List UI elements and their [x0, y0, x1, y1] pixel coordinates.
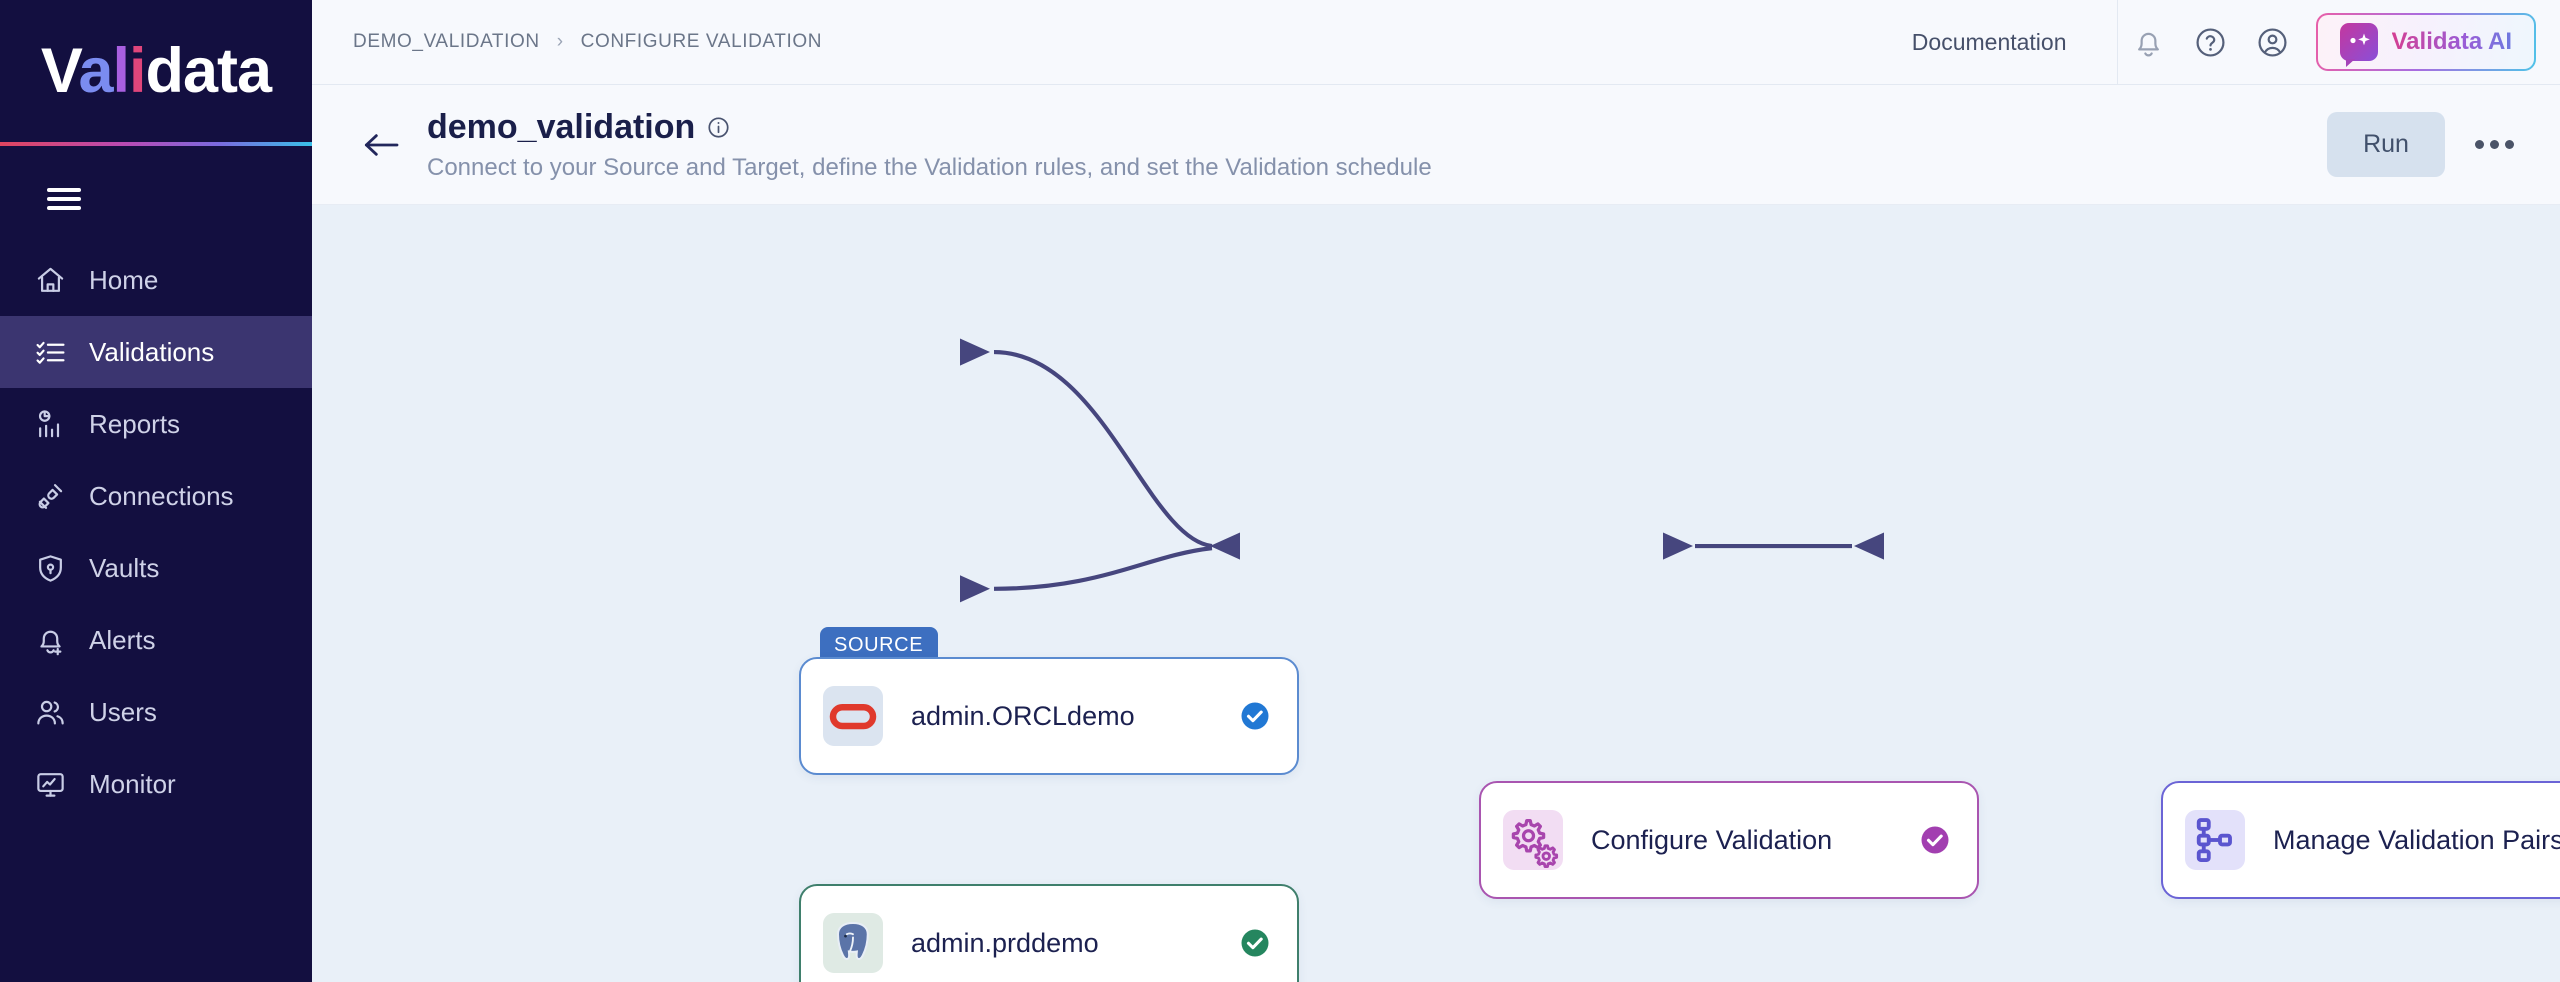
account-button[interactable]	[2242, 11, 2304, 73]
flow-node-label: admin.prddemo	[911, 928, 1237, 959]
brand-gradient-divider	[0, 142, 312, 146]
top-bar: DEMO_VALIDATION › CONFIGURE VALIDATION D…	[312, 0, 2560, 85]
hamburger-icon[interactable]	[47, 188, 81, 210]
status-check-icon	[1917, 822, 1953, 858]
flow-node-label: Manage Validation Pairs	[2273, 825, 2560, 856]
page-title-row: demo_validation	[427, 108, 1432, 147]
plug-icon	[33, 479, 67, 513]
logo-letter-v: V	[41, 36, 79, 106]
bell-icon	[2132, 26, 2165, 59]
status-check-icon	[1237, 698, 1273, 734]
report-chart-icon	[33, 407, 67, 441]
sidebar-nav: Home Validations Repor	[0, 244, 312, 820]
sidebar-item-alerts[interactable]: Alerts	[0, 604, 312, 676]
logo-letter-a: a	[78, 36, 112, 106]
sidebar-item-label: Alerts	[89, 625, 155, 656]
documentation-link[interactable]: Documentation	[1862, 29, 2117, 56]
page-header: demo_validation Connect to your Source a…	[312, 85, 2560, 205]
flow-node-source[interactable]: admin.ORCLdemo	[799, 657, 1299, 775]
sidebar-item-label: Connections	[89, 481, 234, 512]
page-subtitle: Connect to your Source and Target, defin…	[427, 154, 1432, 182]
bell-plus-icon	[33, 623, 67, 657]
monitor-chart-icon	[33, 767, 67, 801]
flow-node-manage-validation-pairs[interactable]: Manage Validation Pairs	[2161, 781, 2560, 899]
sidebar: Validata Home	[0, 0, 312, 982]
arrow-left-icon	[361, 129, 401, 161]
validata-ai-label: Validata AI	[2392, 28, 2513, 56]
flow-node-configure-validation[interactable]: Configure Validation	[1479, 781, 1979, 899]
sidebar-item-vaults[interactable]: Vaults	[0, 532, 312, 604]
help-button[interactable]	[2180, 11, 2242, 73]
info-circle-icon[interactable]	[707, 116, 730, 139]
status-check-icon	[1237, 925, 1273, 961]
sidebar-item-label: Users	[89, 697, 157, 728]
main-area: DEMO_VALIDATION › CONFIGURE VALIDATION D…	[312, 0, 2560, 982]
flow-node-label: admin.ORCLdemo	[911, 701, 1237, 732]
logo-letter-l: l	[113, 36, 130, 106]
postgresql-logo-icon	[823, 913, 883, 973]
home-icon	[33, 263, 67, 297]
notifications-button[interactable]	[2118, 11, 2180, 73]
help-circle-icon	[2194, 26, 2227, 59]
page-header-actions: Run	[2327, 112, 2519, 177]
shield-lock-icon	[33, 551, 67, 585]
sidebar-item-reports[interactable]: Reports	[0, 388, 312, 460]
kebab-menu-icon[interactable]	[2469, 120, 2519, 170]
logo-letter-i: i	[129, 36, 146, 106]
app-root: Validata Home	[0, 0, 2560, 982]
checklist-icon	[33, 335, 67, 369]
page-header-text: demo_validation Connect to your Source a…	[427, 108, 1432, 182]
sidebar-item-monitor[interactable]: Monitor	[0, 748, 312, 820]
validata-ai-button[interactable]: Validata AI	[2316, 13, 2537, 71]
top-bar-actions: Documentation	[1862, 0, 2560, 84]
sidebar-item-users[interactable]: Users	[0, 676, 312, 748]
logo-letters-data: data	[146, 36, 272, 106]
breadcrumb-item-parent[interactable]: DEMO_VALIDATION	[353, 31, 540, 53]
flow-node-target[interactable]: admin.prddemo	[799, 884, 1299, 982]
flow-node-label: Configure Validation	[1591, 825, 1917, 856]
page-title: demo_validation	[427, 108, 695, 147]
sidebar-item-validations[interactable]: Validations	[0, 316, 312, 388]
flow-graph: SOURCE admin.ORCLdemo	[312, 205, 2560, 982]
users-icon	[33, 695, 67, 729]
account-circle-icon	[2256, 26, 2289, 59]
sidebar-item-label: Monitor	[89, 769, 176, 800]
sidebar-item-label: Reports	[89, 409, 180, 440]
sidebar-item-connections[interactable]: Connections	[0, 460, 312, 532]
breadcrumb: DEMO_VALIDATION › CONFIGURE VALIDATION	[312, 31, 822, 53]
flow-canvas[interactable]: SOURCE admin.ORCLdemo	[312, 205, 2560, 982]
app-logo[interactable]: Validata	[0, 0, 312, 142]
run-button[interactable]: Run	[2327, 112, 2445, 177]
hierarchy-icon	[2185, 810, 2245, 870]
sidebar-item-label: Validations	[89, 337, 214, 368]
sidebar-item-label: Vaults	[89, 553, 159, 584]
sidebar-item-label: Home	[89, 265, 158, 296]
gears-icon	[1503, 810, 1563, 870]
chevron-right-icon: ›	[557, 31, 564, 53]
back-button[interactable]	[353, 117, 409, 173]
oracle-logo-icon	[823, 686, 883, 746]
chat-sparkle-icon	[2340, 23, 2378, 61]
sidebar-item-home[interactable]: Home	[0, 244, 312, 316]
breadcrumb-item-current[interactable]: CONFIGURE VALIDATION	[581, 31, 822, 53]
